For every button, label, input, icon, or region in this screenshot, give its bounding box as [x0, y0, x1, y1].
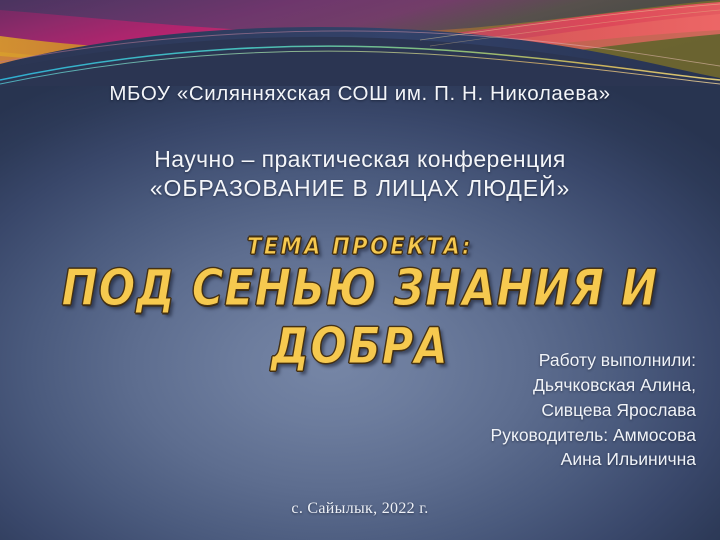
- place-and-date: с. Сайылык, 2022 г.: [0, 500, 720, 518]
- authors-line: Сивцева Ярослава: [366, 398, 696, 423]
- wave-ribbon-banner: [0, 0, 720, 86]
- wave-ribbon-graphic: [0, 0, 720, 86]
- conference-title: Научно – практическая конференция «ОБРАЗ…: [0, 145, 720, 204]
- conference-line-2: «ОБРАЗОВАНИЕ В ЛИЦАХ ЛЮДЕЙ»: [0, 174, 720, 203]
- authors-line: Дьячковская Алина,: [366, 373, 696, 398]
- authors-block: Работу выполнили: Дьячковская Алина, Сив…: [366, 348, 696, 472]
- authors-line: Руководитель: Аммосова: [366, 423, 696, 448]
- school-name: МБОУ «Силянняхская СОШ им. П. Н. Николае…: [0, 82, 720, 106]
- theme-label: ТЕМА ПРОЕКТА:: [0, 233, 720, 260]
- authors-line: Аина Ильинична: [366, 447, 696, 472]
- authors-line: Работу выполнили:: [366, 348, 696, 373]
- presentation-slide: МБОУ «Силянняхская СОШ им. П. Н. Николае…: [0, 0, 720, 540]
- conference-line-1: Научно – практическая конференция: [0, 145, 720, 174]
